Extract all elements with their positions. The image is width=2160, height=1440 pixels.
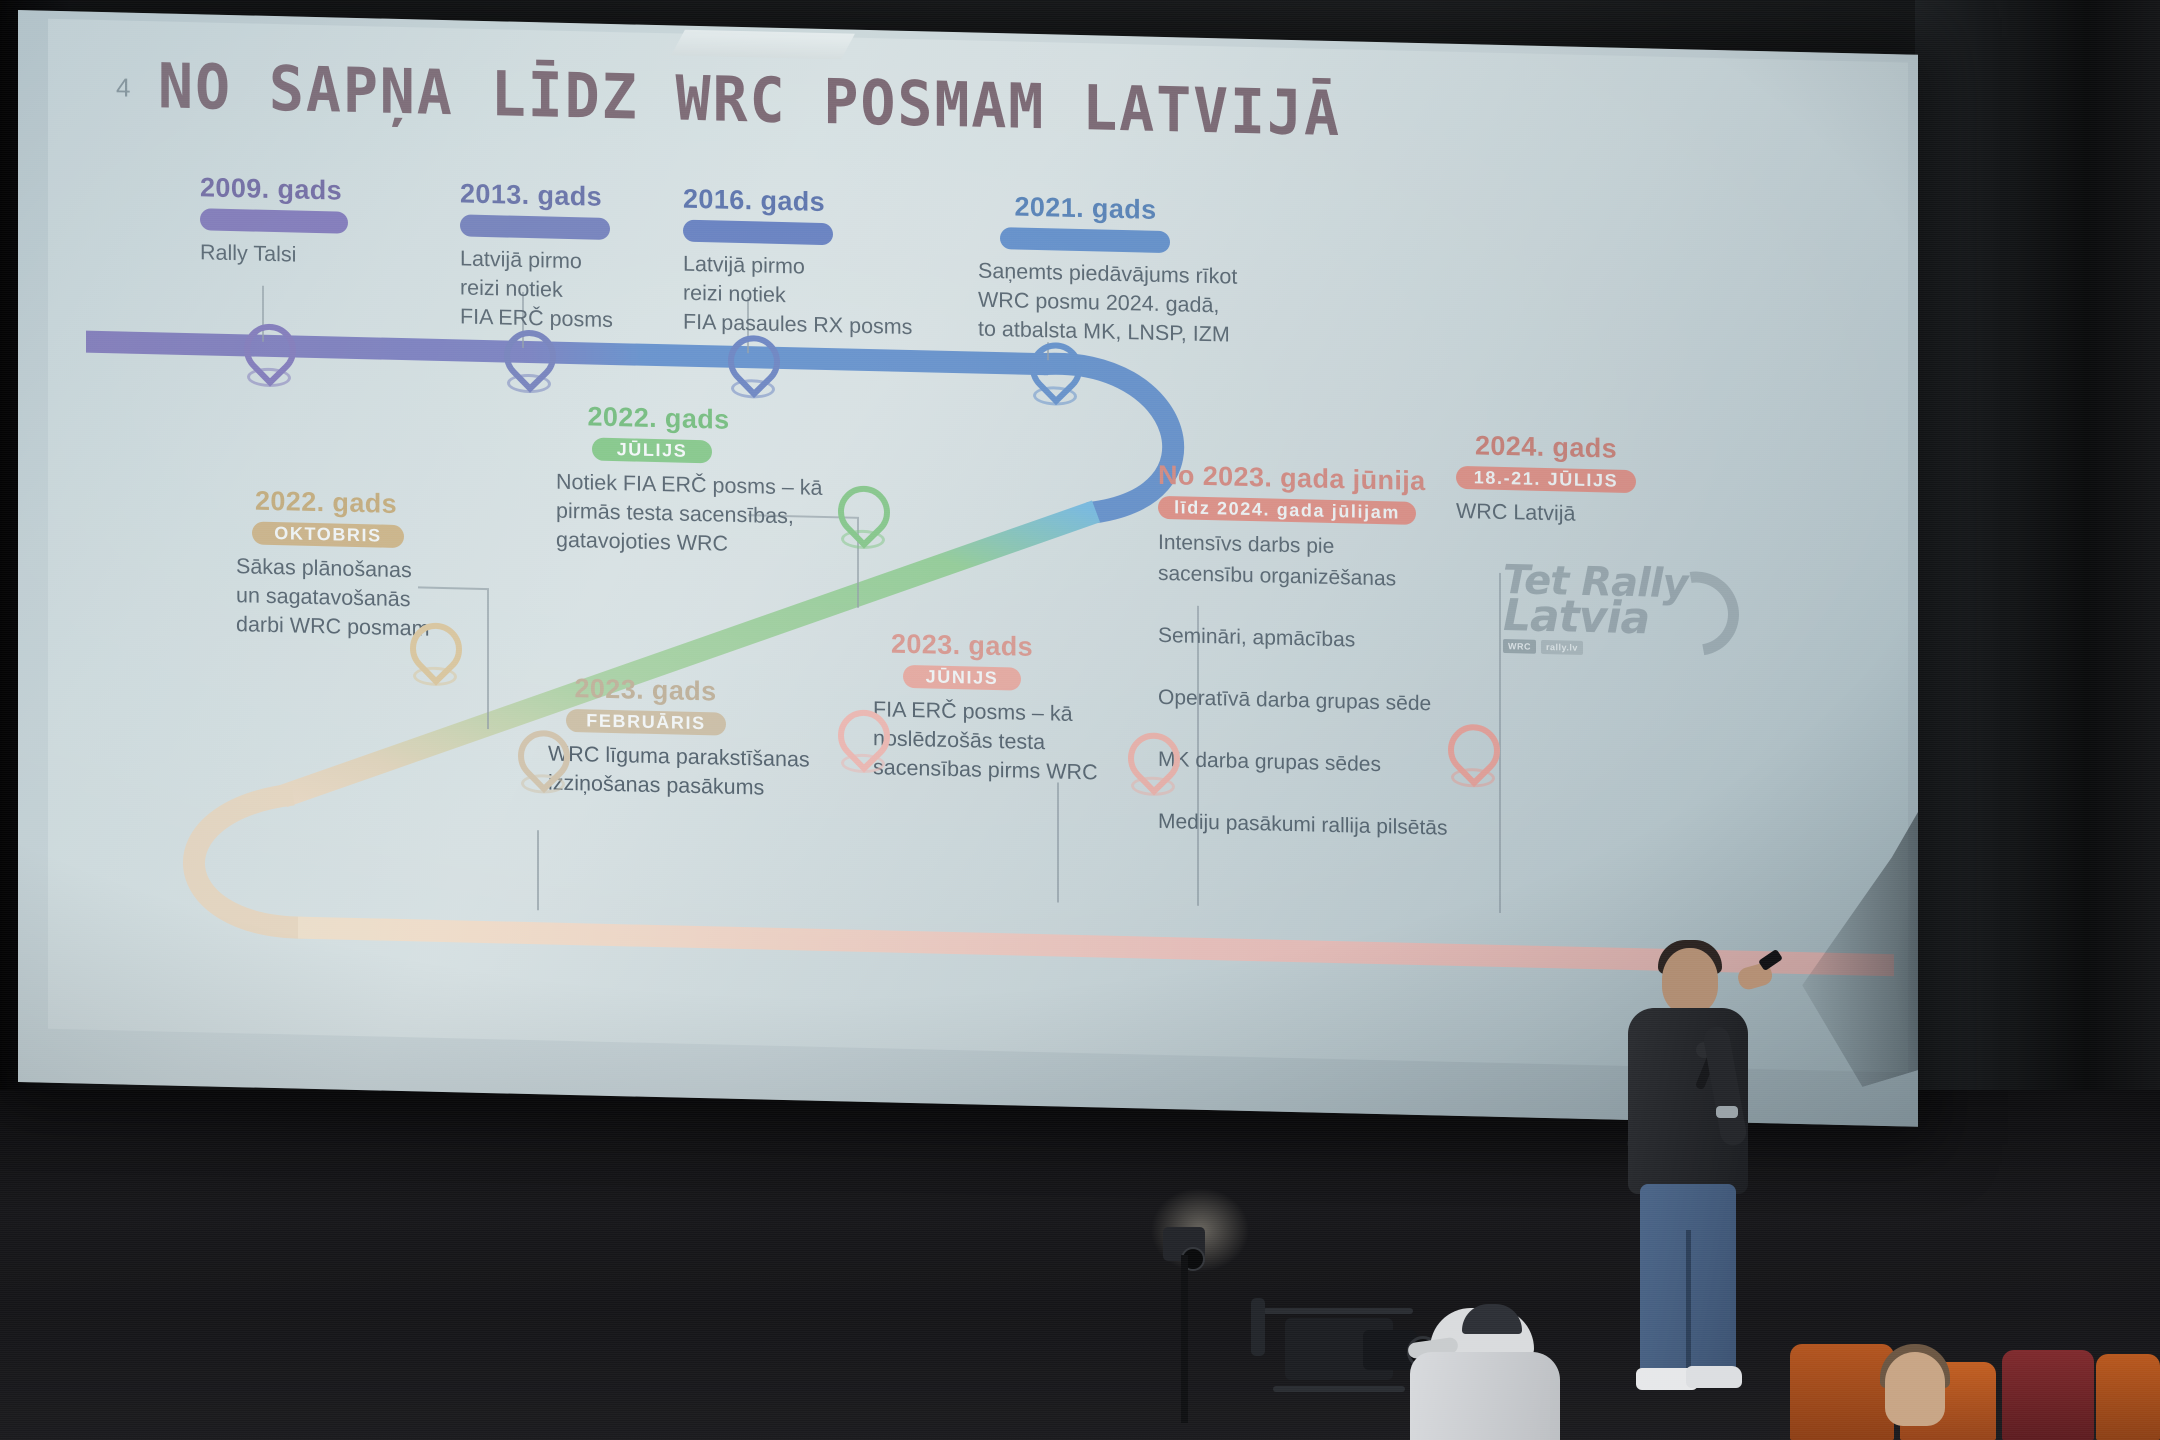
- entry-month-label: 18.-21. JŪLIJS: [1474, 467, 1618, 491]
- entry-desc: Saņemts piedāvājums rīkot WRC posmu 2024…: [978, 257, 1238, 350]
- presenter-head: [1662, 948, 1718, 1014]
- light-pole: [1181, 1255, 1188, 1423]
- entry-desc: WRC līguma parakstīšanas izziņošanas pas…: [548, 739, 828, 804]
- timeline-entry-2016: 2016. gads Latvijā pirmo reizi notiek FI…: [683, 184, 913, 342]
- entry-desc: FIA ERČ posms – kā noslēdzošās testa sac…: [873, 695, 1108, 788]
- map-pin-icon: [504, 329, 544, 384]
- entry-month-label: līdz 2024. gada jūlijam: [1174, 497, 1400, 523]
- audience-member-head: [1885, 1352, 1945, 1426]
- entry-bar: [460, 214, 610, 240]
- seat: [1790, 1344, 1894, 1440]
- seat: [2002, 1350, 2094, 1440]
- entry-month-label: JŪLIJS: [617, 439, 688, 462]
- entry-year: 2021. gads: [978, 191, 1193, 227]
- entry-desc: Latvijā pirmo reizi notiek FIA pasaules …: [683, 250, 913, 342]
- tet-rally-latvia-logo: Tet Rally Latvia WRC rally.lv: [1503, 563, 1733, 673]
- entry-desc: WRC Latvijā: [1456, 497, 1706, 532]
- timeline-entry-2023-februaris: 2023. gads FEBRUĀRIS WRC līguma parakstī…: [548, 672, 828, 804]
- entry-bar: [200, 208, 348, 233]
- entry-year: 2009. gads: [200, 172, 380, 207]
- timeline-entry-2022-oktobris: 2022. gads OKTOBRIS Sākas plānošanas un …: [236, 485, 451, 644]
- timeline-entry-2023-2024-period: No 2023. gada jūnija līdz 2024. gada jūl…: [1158, 460, 1458, 844]
- map-pin-icon: [244, 323, 284, 378]
- entry-bar: [1000, 227, 1170, 253]
- timeline-entry-2013: 2013. gads Latvijā pirmo reizi notiek FI…: [460, 178, 660, 336]
- map-pin-icon: [838, 709, 878, 764]
- entry-month-label: JŪNIJS: [926, 666, 999, 689]
- map-pin-icon: [838, 485, 878, 540]
- entry-month-label: OKTOBRIS: [274, 523, 381, 547]
- map-pin-icon: [518, 730, 558, 785]
- operator-body: [1410, 1352, 1560, 1440]
- slide-number: 4: [116, 72, 130, 103]
- entry-month-chip: līdz 2024. gada jūlijam: [1158, 496, 1416, 525]
- entry-month-chip: OKTOBRIS: [252, 522, 404, 549]
- logo-tag-wrc: WRC: [1503, 639, 1536, 654]
- entry-desc: Latvijā pirmo reizi notiek FIA ERČ posms: [460, 244, 660, 336]
- map-pin-icon: [410, 622, 450, 677]
- timeline-entry-2022-julijs: 2022. gads JŪLIJS Notiek FIA ERČ posms –…: [556, 401, 826, 561]
- entry-desc: Notiek FIA ERČ posms – kā pirmās testa s…: [556, 468, 826, 561]
- timeline-entry-2024: 2024. gads 18.-21. JŪLIJS WRC Latvijā: [1456, 430, 1706, 532]
- logo-tag-site: rally.lv: [1541, 640, 1583, 655]
- entry-year: 2022. gads: [556, 401, 761, 437]
- entry-month-chip: JŪNIJS: [903, 665, 1021, 691]
- entry-year: 2024. gads: [1456, 430, 1636, 465]
- map-pin-icon: [1448, 724, 1488, 779]
- entry-year: No 2023. gada jūnija: [1158, 460, 1458, 498]
- timeline-entry-2023-junijs: 2023. gads JŪNIJS FIA ERČ posms – kā nos…: [873, 628, 1108, 788]
- presenter-shoe-right: [1686, 1366, 1742, 1388]
- entry-year: 2023. gads: [548, 672, 743, 708]
- map-pin-icon: [1128, 732, 1168, 787]
- presenter-clicker: [1758, 949, 1783, 971]
- timeline-entry-2009: 2009. gads Rally Talsi: [200, 172, 380, 271]
- entry-desc: Rally Talsi: [200, 238, 380, 271]
- entry-month-label: FEBRUĀRIS: [586, 710, 705, 734]
- timeline-entry-2021: 2021. gads Saņemts piedāvājums rīkot WRC…: [978, 191, 1238, 350]
- presenter-leg-split: [1686, 1230, 1691, 1372]
- presenter: [1600, 930, 1790, 1410]
- auditorium-right-wall: [1915, 0, 2160, 1130]
- entry-month-chip: FEBRUĀRIS: [566, 709, 726, 736]
- seat: [2096, 1354, 2160, 1440]
- presenter-wristwatch: [1716, 1106, 1738, 1118]
- presentation-slide: 4 NO SAPŅA LĪDZ WRC POSMAM LATVIJĀ 2009.…: [48, 19, 1908, 1073]
- map-pin-icon: [728, 335, 768, 390]
- entry-year: 2013. gads: [460, 178, 660, 214]
- entry-bar: [683, 220, 833, 246]
- camera-rod-bottom: [1273, 1386, 1405, 1392]
- audience-seats: [1790, 1330, 2160, 1440]
- photo-scene: 4 NO SAPŅA LĪDZ WRC POSMAM LATVIJĀ 2009.…: [0, 0, 2160, 1440]
- entry-year: 2022. gads: [236, 485, 416, 520]
- camera-rod-top: [1263, 1308, 1413, 1314]
- entry-desc: Intensīvs darbs pie sacensību organizēša…: [1158, 527, 1458, 844]
- camera-operator: [1400, 1300, 1580, 1440]
- entry-year: 2023. gads: [873, 628, 1051, 663]
- camera-handle: [1251, 1298, 1265, 1356]
- entry-month-chip: 18.-21. JŪLIJS: [1456, 466, 1636, 493]
- entry-month-chip: JŪLIJS: [592, 438, 712, 464]
- entry-year: 2016. gads: [683, 184, 913, 220]
- map-pin-icon: [1030, 342, 1070, 397]
- light-stand: [1155, 1215, 1215, 1415]
